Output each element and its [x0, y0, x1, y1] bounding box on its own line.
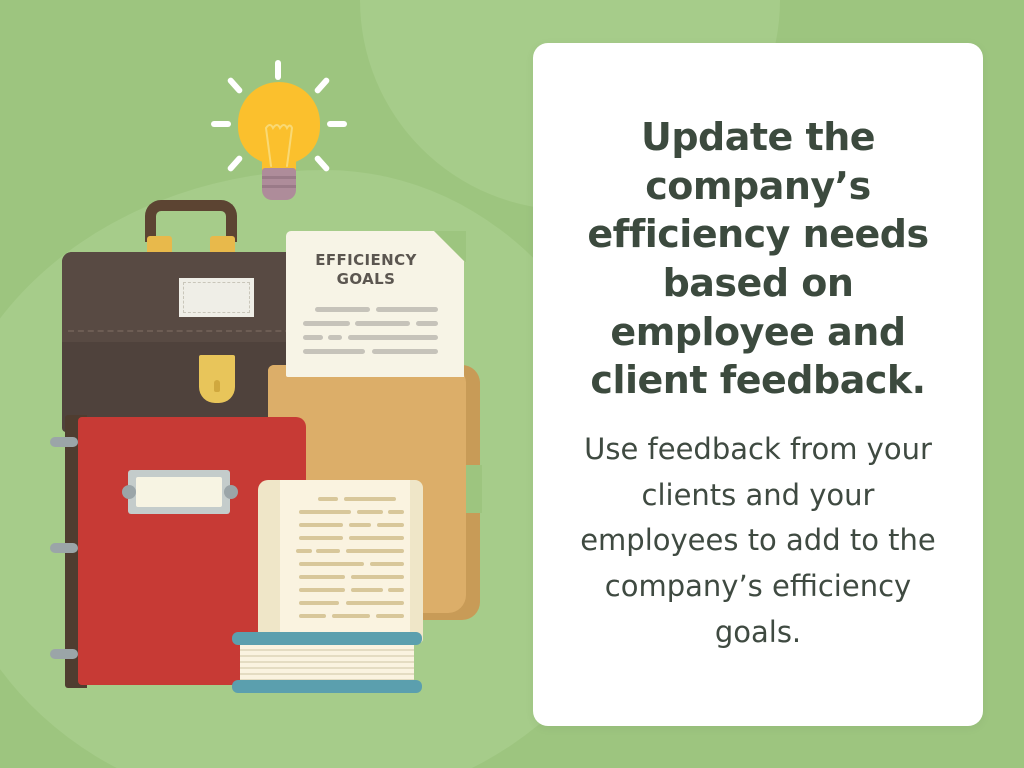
card-body-text: Use feedback from your clients and your …	[555, 427, 961, 656]
closed-book-top-cover	[232, 632, 422, 645]
open-book-text-line	[299, 510, 351, 514]
open-book-text-line	[296, 549, 312, 553]
document-text-line	[355, 321, 410, 326]
open-book-text-line	[370, 562, 404, 566]
open-book-text-line	[299, 536, 343, 540]
open-book-text-line	[299, 588, 345, 592]
open-book-text-line	[299, 601, 339, 605]
document-text-line	[348, 335, 438, 340]
document-text-line	[328, 335, 342, 340]
efficiency-goals-document: EFFICIENCY GOALS	[286, 231, 466, 381]
document-text-line	[416, 321, 438, 326]
card-heading: Update the company’s efficiency needs ba…	[555, 113, 961, 405]
binder-ring	[50, 543, 78, 553]
open-book-text-line	[299, 575, 345, 579]
illustration-group: EFFICIENCY GOALS	[0, 0, 533, 768]
open-book-text-line	[377, 523, 404, 527]
open-book-icon	[258, 480, 428, 645]
lightbulb-icon	[205, 60, 355, 220]
open-book-text-line	[388, 510, 404, 514]
lightbulb-filament	[260, 122, 298, 170]
open-book-text-line	[376, 614, 404, 618]
open-book-text-line	[346, 549, 404, 553]
binder-ring	[50, 437, 78, 447]
lightbulb-ray	[226, 154, 243, 172]
open-book-text-line	[344, 497, 396, 501]
document-title-line-2: GOALS	[337, 270, 396, 288]
binder-label-pin	[224, 485, 238, 499]
open-book-text-line	[316, 549, 340, 553]
closed-book-page-line	[240, 655, 414, 657]
closed-book-page-line	[240, 667, 414, 669]
lightbulb-ray	[226, 76, 243, 94]
briefcase-clasp	[199, 355, 235, 403]
binder-label-paper	[136, 477, 222, 507]
lightbulb-ray	[327, 121, 347, 127]
briefcase-name-label-border	[183, 282, 250, 313]
closed-book-page-line	[240, 673, 414, 675]
lightbulb-ray	[275, 60, 281, 80]
lightbulb-base-ridge	[262, 185, 296, 188]
briefcase-name-label	[179, 278, 254, 317]
open-book-text-line	[299, 523, 343, 527]
open-book-text-line	[318, 497, 338, 501]
open-book-text-line	[346, 601, 404, 605]
briefcase-flap-stitching	[68, 330, 311, 334]
document-text-line	[376, 307, 438, 312]
open-book-text-line	[349, 523, 371, 527]
open-book-text-line	[357, 510, 383, 514]
lightbulb-base	[262, 168, 296, 200]
binder-ring	[50, 649, 78, 659]
document-text-line	[315, 307, 370, 312]
document-text-line	[303, 335, 323, 340]
open-book-text-line	[388, 588, 404, 592]
document-text-line	[303, 349, 365, 354]
lightbulb-ray	[313, 76, 330, 94]
lightbulb-ray	[211, 121, 231, 127]
document-text-line	[303, 321, 350, 326]
content-card: Update the company’s efficiency needs ba…	[533, 43, 983, 726]
closed-book-page-line	[240, 661, 414, 663]
slide-canvas: EFFICIENCY GOALS	[0, 0, 1024, 768]
open-book-text-line	[351, 588, 383, 592]
closed-book-bottom-cover	[232, 680, 422, 693]
document-title-line-1: EFFICIENCY	[315, 251, 417, 269]
document-title: EFFICIENCY GOALS	[286, 251, 446, 289]
open-book-text-line	[351, 575, 404, 579]
open-book-text-line	[349, 536, 404, 540]
open-book-text-line	[299, 562, 364, 566]
open-book-text-line	[332, 614, 370, 618]
open-book-text-line	[299, 614, 326, 618]
closed-book-page-line	[240, 649, 414, 651]
closed-book-icon	[232, 632, 424, 694]
document-text-line	[372, 349, 438, 354]
briefcase-clasp-keyhole	[214, 380, 220, 392]
lightbulb-base-ridge	[262, 176, 296, 179]
lightbulb-ray	[313, 154, 330, 172]
binder-label-pin	[122, 485, 136, 499]
